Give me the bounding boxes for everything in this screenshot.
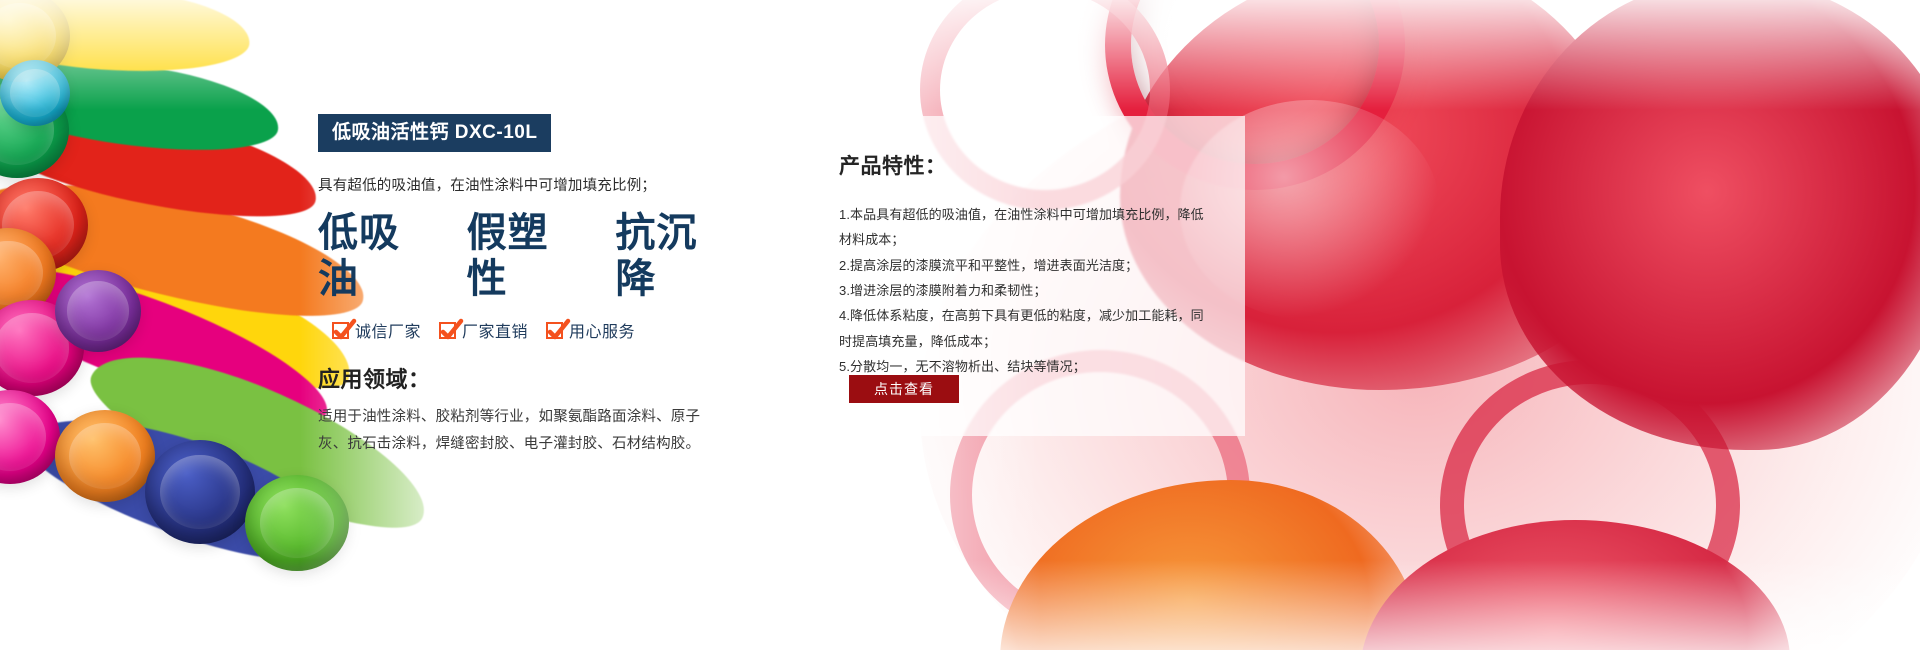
checkbox-checked-icon bbox=[546, 322, 563, 339]
promo-banner: 低吸油活性钙 DXC-10L 具有超低的吸油值，在油性涂料中可增加填充比例； 低… bbox=[0, 0, 1920, 650]
fade-bottom bbox=[0, 560, 1920, 650]
product-name-chip: 低吸油活性钙 DXC-10L bbox=[318, 114, 551, 152]
product-features-panel-inner: 产品特性： 1.本品具有超低的吸油值，在油性涂料中可增加填充比例，降低材料成本；… bbox=[805, 116, 1245, 379]
checkbox-checked-icon bbox=[332, 322, 349, 339]
trust-badge-label: 厂家直销 bbox=[462, 318, 528, 342]
headline-word-1: 低吸油 bbox=[318, 210, 441, 302]
trust-badge: 用心服务 bbox=[546, 318, 635, 342]
feature-item: 4.降低体系粘度，在高剪下具有更低的粘度，减少加工能耗，同时提高填充量，降低成本… bbox=[839, 303, 1215, 354]
features-title: 产品特性： bbox=[839, 150, 1215, 180]
paint-pot-orange-2 bbox=[55, 410, 155, 502]
application-section-body: 适用于油性涂料、胶粘剂等行业，如聚氨酯路面涂料、原子灰、抗石击涂料，焊缝密封胶、… bbox=[318, 404, 718, 458]
feature-item: 1.本品具有超低的吸油值，在油性涂料中可增加填充比例，降低材料成本； bbox=[839, 202, 1215, 253]
trust-badge: 诚信厂家 bbox=[332, 318, 421, 342]
feature-item: 2.提高涂层的漆膜流平和平整性，增进表面光洁度； bbox=[839, 253, 1215, 278]
features-list: 1.本品具有超低的吸油值，在油性涂料中可增加填充比例，降低材料成本； 2.提高涂… bbox=[839, 202, 1215, 379]
left-content: 低吸油活性钙 DXC-10L 具有超低的吸油值，在油性涂料中可增加填充比例； 低… bbox=[318, 114, 738, 458]
view-details-button[interactable]: 点击查看 bbox=[849, 375, 959, 403]
trust-badge: 厂家直销 bbox=[439, 318, 528, 342]
paint-pot-blue bbox=[145, 440, 255, 544]
product-subtitle: 具有超低的吸油值，在油性涂料中可增加填充比例； bbox=[318, 176, 738, 196]
headline-word-2: 假塑性 bbox=[467, 210, 590, 302]
trust-badge-label: 用心服务 bbox=[569, 318, 635, 342]
paint-pot-purple bbox=[55, 270, 141, 352]
headline-word-3: 抗沉降 bbox=[615, 210, 738, 302]
application-section-title: 应用领域： bbox=[318, 362, 738, 394]
fade-top bbox=[0, 0, 1920, 110]
trust-badges: 诚信厂家 厂家直销 用心服务 bbox=[332, 318, 738, 342]
feature-item: 3.增进涂层的漆膜附着力和柔韧性； bbox=[839, 278, 1215, 303]
headline-keywords: 低吸油 假塑性 抗沉降 bbox=[318, 210, 738, 302]
trust-badge-label: 诚信厂家 bbox=[355, 318, 421, 342]
checkbox-checked-icon bbox=[439, 322, 456, 339]
